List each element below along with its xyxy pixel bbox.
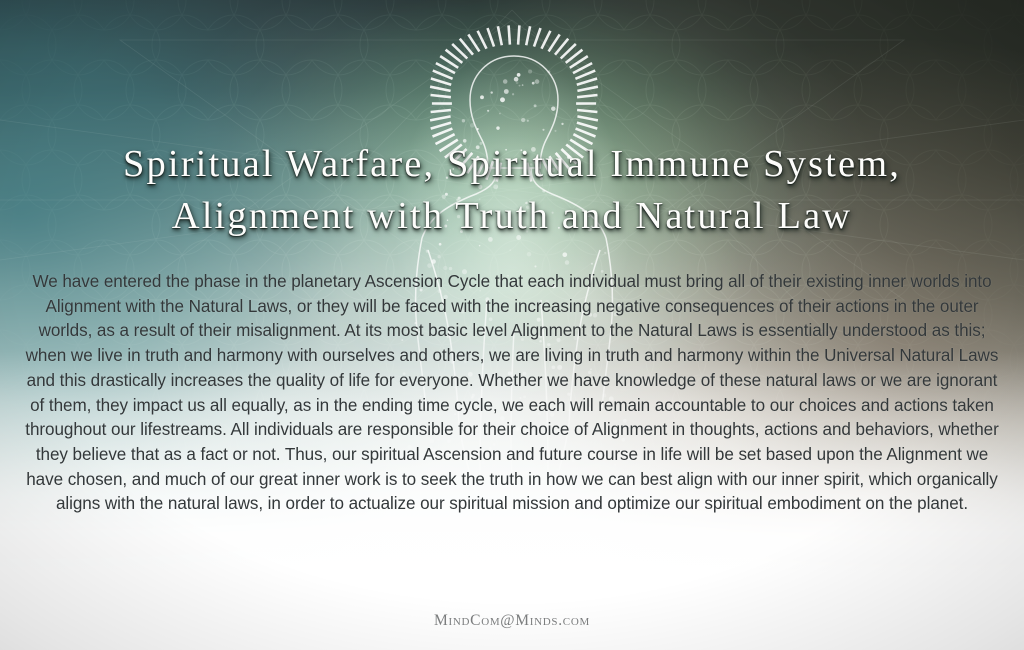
- footer-email: MindCom@Minds.com: [0, 612, 1024, 630]
- page-title: Spiritual Warfare, Spiritual Immune Syst…: [0, 138, 1024, 243]
- poster-canvas: Spiritual Warfare, Spiritual Immune Syst…: [0, 0, 1024, 650]
- body-text: We have entered the phase in the planeta…: [24, 270, 1000, 517]
